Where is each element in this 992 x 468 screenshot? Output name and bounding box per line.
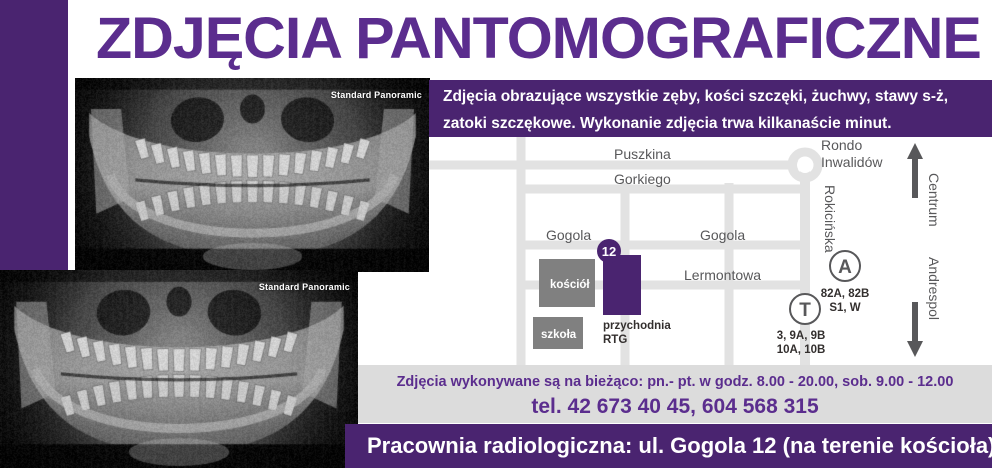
map-marker-12-label: 12 <box>602 244 616 259</box>
direction-label-centrum: Centrum <box>926 173 942 227</box>
direction-label-andrespol: Andrespol <box>926 257 942 320</box>
roundabout-icon <box>792 152 818 178</box>
street-label-gogola-left: Gogola <box>546 227 591 243</box>
transit-badge-tram-letter: T <box>799 300 811 321</box>
street-label-lermontowa: Lermontowa <box>684 267 761 283</box>
xray-image-top: Standard Panoramic <box>75 78 430 272</box>
info-band: Zdjęcia wykonywane są na bieżąco: pn.- p… <box>358 365 992 423</box>
transit-bus-lines-2: S1, W <box>829 302 860 314</box>
xray-label-top: Standard Panoramic <box>331 90 422 100</box>
direction-arrow-up-icon <box>907 143 923 198</box>
building-label-przychodnia-1: przychodnia <box>603 320 671 332</box>
street-label-puszkina: Puszkina <box>614 146 671 162</box>
direction-arrow-down-icon <box>907 302 923 357</box>
address-band: Pracownia radiologiczna: ul. Gogola 12 (… <box>345 424 992 468</box>
transit-badge-bus: A <box>830 251 860 281</box>
transit-badge-tram: T <box>790 294 820 324</box>
roundabout-label-line1: Rondo <box>821 137 862 153</box>
address-text: Pracownia radiologiczna: ul. Gogola 12 (… <box>367 433 992 459</box>
street-label-rokicinska: Rokicińska <box>822 185 838 253</box>
phone-numbers: tel. 42 673 40 45, 604 568 315 <box>358 393 992 421</box>
transit-tram-lines-2: 10A, 10B <box>777 344 826 356</box>
location-map: Puszkina Gorkiego Gogola Gogola Lermonto… <box>429 137 992 365</box>
left-purple-bar <box>0 0 68 272</box>
street-label-gogola-right: Gogola <box>700 227 745 243</box>
opening-hours: Zdjęcia wykonywane są na bieżąco: pn.- p… <box>358 371 992 393</box>
xray-canvas-top <box>75 78 430 272</box>
map-marker-12: 12 <box>597 239 621 263</box>
xray-canvas-bottom <box>0 270 358 468</box>
transit-badge-bus-letter: A <box>838 257 852 278</box>
building-label-przychodnia-2: RTG <box>603 334 627 346</box>
street-label-gorkiego: Gorkiego <box>614 171 671 187</box>
building-przychodnia <box>603 255 641 315</box>
roundabout-label-line2: Inwalidów <box>821 154 883 170</box>
description-band: Zdjęcia obrazujące wszystkie zęby, kości… <box>429 80 992 137</box>
description-line-2: zatoki szczękowe. Wykonanie zdjęcia trwa… <box>443 110 992 137</box>
transit-bus-lines-1: 82A, 82B <box>821 288 870 300</box>
poster-root: ZDJĘCIA PANTOMOGRAFICZNE Standard Panora… <box>0 0 992 468</box>
building-label-kosciol: kościół <box>550 279 590 291</box>
page-title: ZDJĘCIA PANTOMOGRAFICZNE <box>96 6 992 72</box>
transit-tram-lines-1: 3, 9A, 9B <box>777 330 826 342</box>
building-label-szkola: szkoła <box>541 329 577 341</box>
xray-label-bottom: Standard Panoramic <box>259 282 350 292</box>
description-line-1: Zdjęcia obrazujące wszystkie zęby, kości… <box>443 83 992 110</box>
xray-image-bottom: Standard Panoramic <box>0 270 358 468</box>
